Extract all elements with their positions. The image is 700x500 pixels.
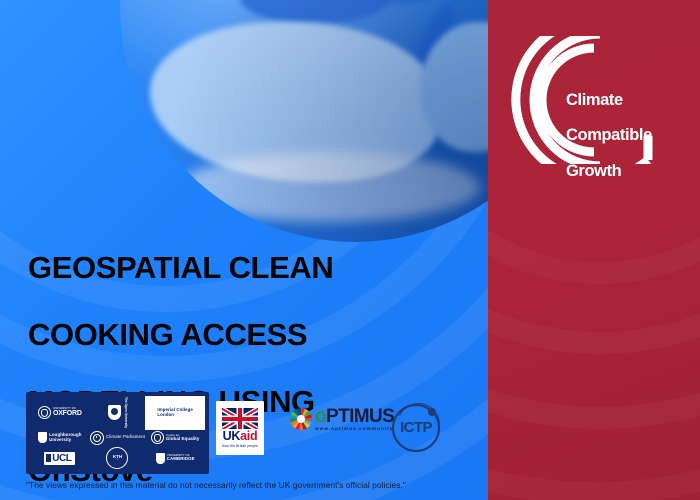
loughborough-main-text: University	[49, 437, 71, 442]
optimus-prefix: o	[315, 406, 326, 427]
logo-the-open-university: The Open University	[90, 397, 146, 428]
ictp-logo: ICTP	[392, 404, 440, 452]
imperial-main-text: London	[157, 412, 174, 417]
flag-vertical-red	[238, 408, 242, 429]
globe-shading	[120, 0, 488, 242]
open-university-logo-text: The Open University	[123, 397, 127, 428]
ccg-line-3: Growth	[566, 162, 621, 180]
right-red-panel: Climate Compatible Growth	[488, 0, 700, 500]
climate-parliament-text: Climate Parliament	[106, 435, 145, 440]
kth-partner-motto: ⚔	[117, 459, 119, 461]
logo-kth-partner: KTH ⚔	[90, 447, 146, 469]
cambridge-shield-icon	[156, 453, 165, 464]
ou-top-text: The Open	[124, 397, 128, 412]
left-blue-panel: GEOSPATIAL CLEAN COOKING ACCESS MODELLIN…	[0, 0, 488, 500]
ukaid-logo: UKaid from the British people	[216, 401, 264, 455]
union-jack-flag-icon	[222, 408, 258, 429]
ictp-dot-icon	[428, 408, 436, 416]
ccg-line-2: Compatible	[566, 126, 652, 144]
title-line-1: GEOSPATIAL CLEAN	[28, 250, 333, 285]
cambridge-main-text: CAMBRIDGE	[167, 456, 195, 461]
ccg-line-1: Climate	[566, 91, 623, 109]
ucl-logo-box: UCL	[44, 452, 75, 465]
global-equality-text: Centre for Global Equality	[166, 434, 199, 442]
ukaid-tagline: from the British people	[222, 444, 258, 448]
climate-parliament-ring-icon	[90, 431, 104, 445]
cge-main-text: Global Equality	[166, 436, 199, 441]
kth-seal-icon: KTH ⚔	[106, 447, 128, 469]
disclaimer-text: "The views expressed in this material do…	[26, 480, 478, 490]
partner-logos-panel: UNIVERSITY OF OXFORD The Open University…	[26, 392, 209, 474]
oxford-main-text: OXFORD	[53, 410, 82, 417]
logo-university-of-cambridge: UNIVERSITY OF CAMBRIDGE	[147, 447, 203, 469]
globe-sphere	[120, 0, 488, 242]
optimus-wordmark: oPTIMUS	[315, 406, 394, 427]
climate-compatible-growth-logo: Climate Compatible Growth	[508, 36, 680, 164]
open-university-mark-icon	[108, 405, 121, 420]
ukaid-wordmark: UKaid	[223, 430, 258, 443]
logo-loughborough-university: Loughborough University	[32, 430, 88, 445]
ukaid-aid-text: aid	[240, 429, 257, 443]
logo-university-of-oxford: UNIVERSITY OF OXFORD	[32, 397, 88, 428]
ictp-abbr-text: ICTP	[392, 419, 440, 436]
cambridge-logo-text: UNIVERSITY OF CAMBRIDGE	[167, 454, 195, 462]
ukaid-uk-text: UK	[223, 429, 240, 443]
global-equality-mark-icon	[151, 431, 164, 444]
logo-imperial-college-london: Imperial College London	[145, 396, 205, 430]
optimus-text-block: oPTIMUS www.optimus.community	[315, 407, 394, 432]
ccg-wordmark: Climate Compatible Growth	[566, 74, 652, 181]
optimus-url-text: www.optimus.community	[315, 427, 394, 432]
presentation-slide: GEOSPATIAL CLEAN COOKING ACCESS MODELLIN…	[0, 0, 700, 500]
partner-logo-grid: UNIVERSITY OF OXFORD The Open University…	[32, 397, 203, 469]
optimus-word: PTIMUS	[326, 406, 394, 427]
logo-ucl: UCL	[32, 447, 88, 469]
ucl-square-icon	[46, 454, 51, 462]
loughborough-logo-text: Loughborough University	[49, 433, 81, 442]
logo-centre-for-global-equality: Centre for Global Equality	[147, 430, 203, 445]
ucl-text: UCL	[52, 453, 71, 464]
ou-main-text: University	[124, 413, 128, 428]
optimus-logo: oPTIMUS www.optimus.community	[290, 407, 394, 432]
loughborough-shield-icon	[38, 432, 47, 443]
logo-climate-parliament: Climate Parliament	[90, 430, 146, 445]
title-line-2: COOKING ACCESS	[28, 317, 307, 352]
earth-globe-image	[120, 0, 488, 242]
oxford-logo-text: UNIVERSITY OF OXFORD	[53, 407, 82, 417]
imperial-logo-text: Imperial College London	[157, 408, 193, 417]
oxford-crest-icon	[38, 406, 51, 419]
sdg-wheel-icon	[290, 408, 312, 430]
